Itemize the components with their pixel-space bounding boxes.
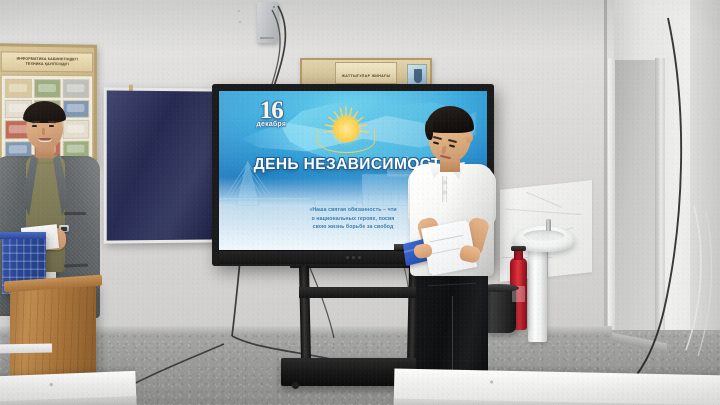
slide-date-block: 16 декабря	[231, 99, 311, 128]
polo-button	[443, 191, 446, 194]
table-edge-left	[0, 343, 52, 353]
wall-corner-seam	[604, 0, 607, 360]
teacher-eye-right	[49, 125, 54, 127]
slide-day-number: 16	[231, 99, 311, 122]
kazakhstan-sun-emblem	[315, 105, 377, 157]
panel-button-menu-icon[interactable]	[352, 256, 355, 259]
student-hair-sideburn	[425, 120, 433, 140]
teacher-smile	[38, 138, 52, 142]
wall-anchor-dots	[238, 10, 244, 30]
person-student-presenting	[398, 106, 516, 396]
panel-button-source-icon[interactable]	[358, 256, 361, 259]
teacher-hair	[23, 101, 66, 123]
wooden-lectern	[10, 282, 96, 382]
sink-bowl	[524, 230, 564, 241]
tv-stand-caster	[292, 382, 299, 389]
desk-screw-hole	[490, 380, 493, 383]
poster-left-header: ИНФОРМАТИКА КАБИНЕТІНДЕГІ ТЕХНИКА ҚАУІПС…	[1, 51, 93, 72]
poster-center-plate: ЖАТТЫҒУЛАР ЖИНАҒЫ	[335, 62, 398, 84]
door-recess-edge	[608, 58, 615, 360]
wall-mounted-control-box	[257, 2, 278, 43]
student-hair	[426, 106, 474, 133]
sink-pedestal	[528, 249, 547, 342]
poster-center-title: ЖАТТЫҒУЛАР ЖИНАҒЫ	[342, 74, 391, 78]
poster-center-thumbnail	[407, 64, 427, 85]
navy-pinboard	[104, 87, 216, 243]
teacher-eye-left	[32, 125, 37, 127]
door-jamb	[655, 58, 665, 358]
photo-scene: ИНФОРМАТИКА КАБИНЕТІНДЕГІ ТЕХНИКА ҚАУІПС…	[0, 0, 720, 405]
white-desk-foreground-left	[0, 371, 137, 405]
polo-button	[443, 181, 446, 184]
vent-slot	[260, 37, 274, 39]
crate-rim	[0, 232, 46, 239]
status-led-icon	[273, 6, 275, 8]
panel-button-power-icon[interactable]	[346, 256, 349, 259]
blazer-chest-pocket	[64, 212, 86, 215]
polo-placket	[442, 176, 447, 202]
slide-month-label: декабря	[231, 121, 311, 128]
ceiling-shadow	[0, 0, 720, 52]
poster-left-title-line-2: ТЕХНИКА ҚАУІПСІЗДІГІ	[26, 62, 70, 67]
eagle-wings-arc	[317, 128, 375, 152]
pinboard-pin	[129, 85, 133, 91]
desk-screw-hole	[50, 383, 53, 386]
tv-stand-leg-left	[299, 266, 311, 361]
sink-faucet[interactable]	[546, 219, 551, 231]
white-desk-foreground-right	[394, 368, 720, 405]
door-recess-right	[612, 60, 660, 358]
student-ear	[465, 132, 473, 143]
far-right-wall	[690, 0, 720, 360]
